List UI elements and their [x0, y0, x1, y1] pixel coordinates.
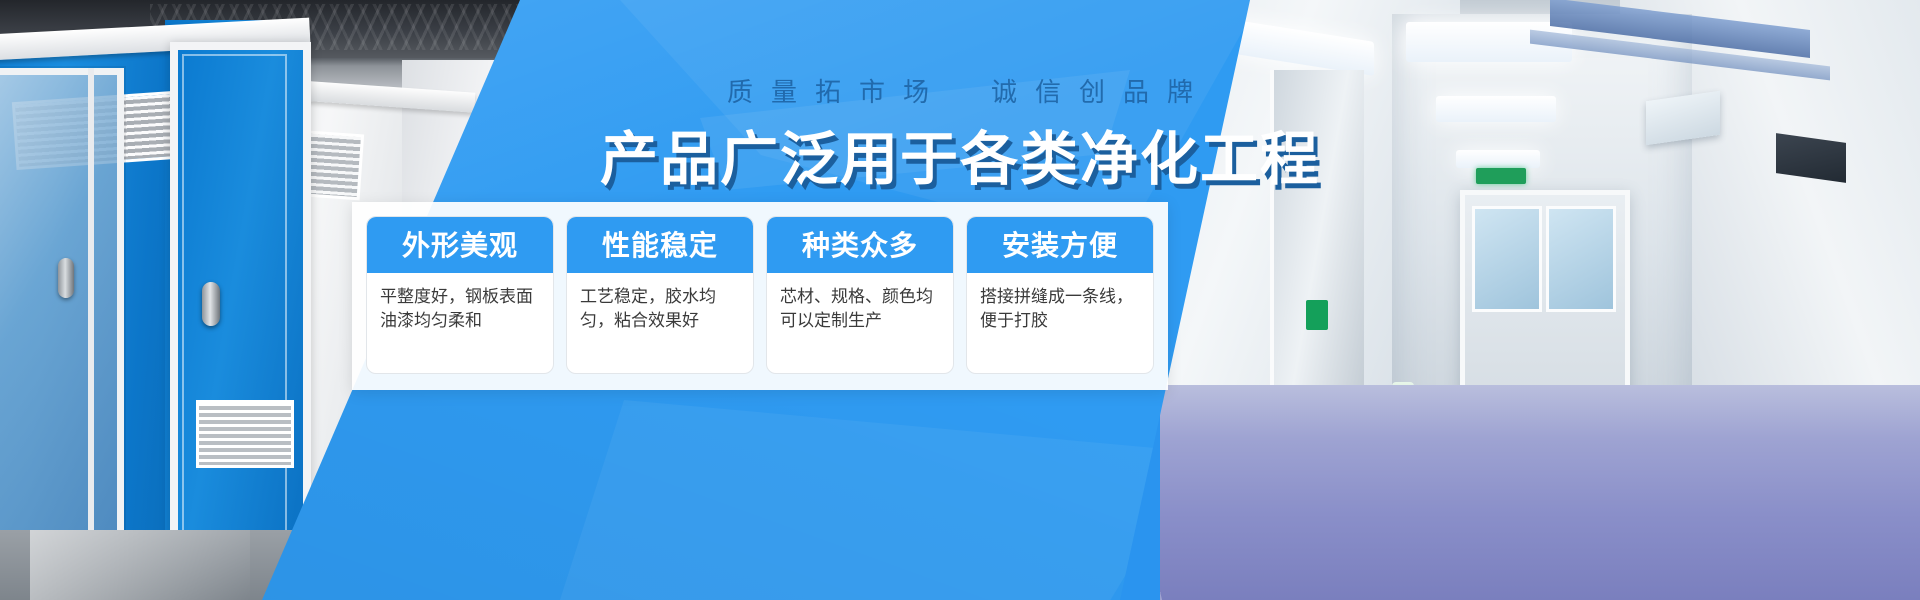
- panel-facet-2: [560, 400, 1200, 600]
- banner-subtitle: 质量拓市场 诚信创品牌: [0, 72, 1920, 109]
- feature-card-title: 种类众多: [767, 217, 953, 273]
- feature-card[interactable]: 种类众多 芯材、规格、颜色均可以定制生产: [766, 216, 954, 374]
- feature-card[interactable]: 外形美观 平整度好，钢板表面油漆均匀柔和: [366, 216, 554, 374]
- feature-card-title: 性能稳定: [567, 217, 753, 273]
- photo-door-handle: [202, 282, 220, 326]
- feature-card-body: 工艺稳定，胶水均匀，粘合效果好: [567, 273, 753, 373]
- feature-card-body: 平整度好，钢板表面油漆均匀柔和: [367, 273, 553, 373]
- photo-glass-handle: [58, 258, 74, 298]
- photo-ground-highlight: [30, 530, 250, 600]
- promo-banner: 质量拓市场 诚信创品牌 产品广泛用于各类净化工程 外形美观 平整度好，钢板表面油…: [0, 0, 1920, 600]
- banner-headline: 产品广泛用于各类净化工程: [0, 112, 1920, 196]
- cleanroom-floor-seams: [1160, 385, 1920, 600]
- exit-indicator: [1306, 300, 1328, 330]
- door-window-right: [1546, 206, 1616, 312]
- photo-door-vent: [196, 400, 294, 468]
- feature-card[interactable]: 性能稳定 工艺稳定，胶水均匀，粘合效果好: [566, 216, 754, 374]
- door-window-left: [1472, 206, 1542, 312]
- feature-cards-container: 外形美观 平整度好，钢板表面油漆均匀柔和 性能稳定 工艺稳定，胶水均匀，粘合效果…: [352, 202, 1168, 390]
- feature-card-title: 外形美观: [367, 217, 553, 273]
- feature-card-body: 芯材、规格、颜色均可以定制生产: [767, 273, 953, 373]
- feature-card-title: 安装方便: [967, 217, 1153, 273]
- feature-card[interactable]: 安装方便 搭接拼缝成一条线，便于打胶: [966, 216, 1154, 374]
- feature-card-body: 搭接拼缝成一条线，便于打胶: [967, 273, 1153, 373]
